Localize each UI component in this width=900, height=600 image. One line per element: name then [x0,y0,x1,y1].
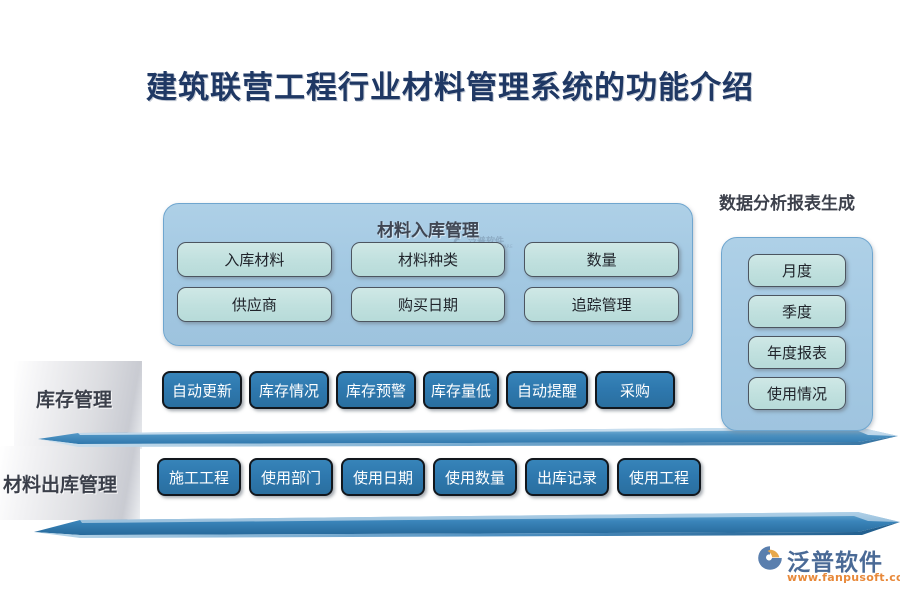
inventory-item[interactable]: 自动提醒 [506,371,588,409]
inbound-item-grid: 入库材料 材料种类 数量 供应商 购买日期 追踪管理 [177,242,679,322]
brand-logo: 泛普软件 www.fanpusoft.com [757,543,897,591]
report-item[interactable]: 月度 [748,254,846,287]
inbound-item[interactable]: 入库材料 [177,242,332,277]
diagram-canvas: 建筑联营工程行业材料管理系统的功能介绍 [0,0,900,600]
reports-section-label: 数据分析报表生成 [719,189,855,214]
outbound-item[interactable]: 使用数量 [433,458,517,496]
report-item[interactable]: 使用情况 [748,377,846,410]
fanpu-logo-icon [757,545,783,571]
inventory-item[interactable]: 库存量低 [423,371,499,409]
arrow-bottom-shape [34,508,900,540]
inventory-section-label: 库存管理 [36,385,112,412]
outbound-item-row: 施工工程 使用部门 使用日期 使用数量 出库记录 使用工程 [157,458,701,496]
inventory-item[interactable]: 自动更新 [162,371,242,409]
outbound-item[interactable]: 出库记录 [525,458,609,496]
inbound-item[interactable]: 追踪管理 [524,287,679,322]
reports-item-list: 月度 季度 年度报表 使用情况 [748,254,846,410]
inventory-item[interactable]: 采购 [595,371,675,409]
outbound-flow-arrow [34,508,900,540]
inbound-item[interactable]: 供应商 [177,287,332,322]
outbound-item[interactable]: 使用工程 [617,458,701,496]
brand-url: www.fanpusoft.com [787,571,900,584]
outbound-section-label: 材料出库管理 [3,470,117,497]
inbound-panel-title: 材料入库管理 [164,216,692,241]
report-item[interactable]: 年度报表 [748,336,846,369]
inbound-management-panel: 材料入库管理 泛普软件 FANPU SOFTWARE 入库材料 材料种类 数量 … [163,203,693,346]
inbound-item[interactable]: 数量 [524,242,679,277]
inbound-item[interactable]: 材料种类 [351,242,506,277]
outbound-item[interactable]: 施工工程 [157,458,241,496]
report-item[interactable]: 季度 [748,295,846,328]
inventory-item-row: 自动更新 库存情况 库存预警 库存量低 自动提醒 采购 [162,371,675,409]
inventory-item[interactable]: 库存情况 [249,371,329,409]
inventory-item[interactable]: 库存预警 [336,371,416,409]
page-title: 建筑联营工程行业材料管理系统的功能介绍 [0,62,900,107]
reports-panel: 月度 季度 年度报表 使用情况 [721,237,873,431]
inbound-item[interactable]: 购买日期 [351,287,506,322]
outbound-item[interactable]: 使用日期 [341,458,425,496]
outbound-item[interactable]: 使用部门 [249,458,333,496]
